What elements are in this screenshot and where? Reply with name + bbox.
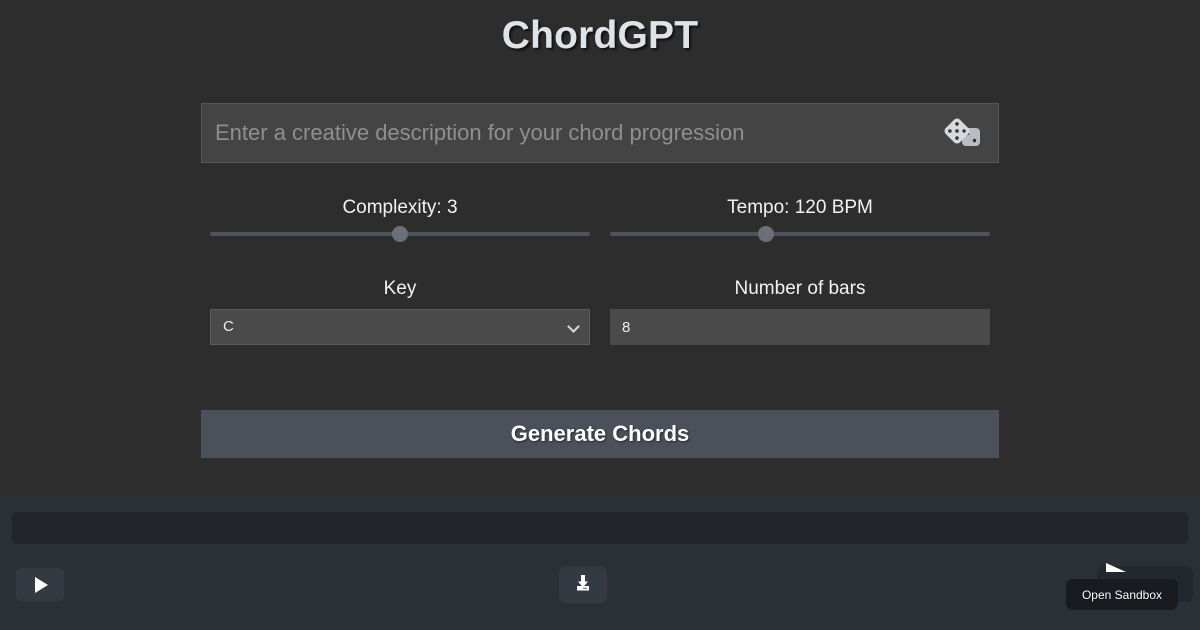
download-button[interactable] — [559, 566, 607, 603]
randomize-button[interactable] — [934, 110, 992, 158]
tempo-slider-group: Tempo: 120 BPM — [610, 196, 990, 220]
tempo-label: Tempo: 120 BPM — [610, 196, 990, 220]
play-button[interactable] — [16, 568, 64, 601]
complexity-slider-thumb[interactable] — [392, 226, 408, 242]
play-icon — [35, 577, 48, 593]
bars-field-group: Number of bars — [610, 277, 990, 345]
complexity-label: Complexity: 3 — [210, 196, 590, 220]
open-sandbox-tooltip: Open Sandbox — [1066, 579, 1178, 610]
tempo-slider-thumb[interactable] — [758, 226, 774, 242]
key-label: Key — [210, 277, 590, 301]
key-select-wrapper: CC#DD#EFF#GG#AA#B — [210, 309, 590, 345]
player-bottom-bar — [0, 494, 1200, 630]
complexity-slider-group: Complexity: 3 — [210, 196, 590, 220]
prompt-input[interactable] — [202, 104, 922, 162]
prompt-input-container — [201, 103, 999, 163]
tempo-slider-track[interactable] — [610, 232, 990, 236]
bars-input[interactable] — [610, 309, 990, 345]
key-field-group: Key CC#DD#EFF#GG#AA#B — [210, 277, 590, 345]
key-select[interactable]: CC#DD#EFF#GG#AA#B — [210, 309, 590, 345]
dice-icon — [943, 116, 983, 153]
player-timeline-panel[interactable] — [12, 512, 1188, 544]
generate-chords-button[interactable]: Generate Chords — [201, 410, 999, 458]
download-icon — [572, 572, 594, 597]
app-main-area: ChordGPT — [0, 0, 1200, 494]
bars-label: Number of bars — [610, 277, 990, 301]
page-title: ChordGPT — [0, 14, 1200, 58]
